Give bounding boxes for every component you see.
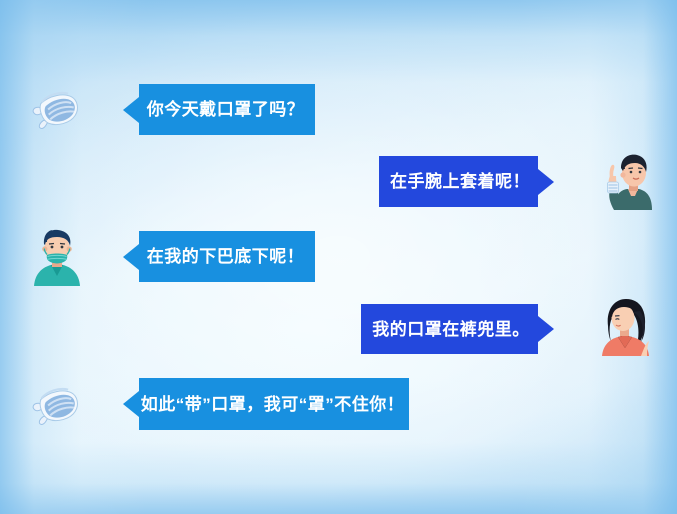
chat-bubble-text-1: 你今天戴口罩了吗？: [147, 101, 305, 118]
chat-bubble-text-3: 在我的下巴底下呢！: [147, 248, 305, 265]
surgical-mask-icon: [28, 378, 84, 430]
surgical-mask-icon: [28, 82, 84, 134]
woman-long-hair-avatar: [594, 296, 658, 356]
bubble-tail-right-4: [538, 316, 554, 342]
background-edge-right: [0, 0, 677, 514]
chat-bubble-3[interactable]: 在我的下巴底下呢！: [139, 231, 315, 282]
bubble-tail-right-2: [538, 169, 554, 195]
chat-bubble-text-5: 如此“带”口罩，我可“罩”不住你！: [141, 396, 405, 413]
chat-bubble-1[interactable]: 你今天戴口罩了吗？: [139, 84, 315, 135]
chat-bubble-text-2: 在手腕上套着呢！: [390, 173, 530, 190]
chat-bubble-text-4: 我的口罩在裤兜里。: [372, 321, 530, 338]
chat-illustration-canvas: 你今天戴口罩了吗？ 在手腕上套着呢！: [0, 0, 677, 514]
man-pointing-with-mask-on-wrist-avatar: [592, 146, 658, 210]
bubble-tail-left-1: [123, 97, 139, 123]
man-mask-under-chin-avatar: [28, 228, 86, 286]
bubble-tail-left-3: [123, 244, 139, 270]
chat-bubble-5[interactable]: 如此“带”口罩，我可“罩”不住你！: [139, 378, 409, 430]
bubble-tail-left-5: [123, 391, 139, 417]
chat-bubble-2[interactable]: 在手腕上套着呢！: [379, 156, 538, 207]
chat-bubble-4[interactable]: 我的口罩在裤兜里。: [361, 304, 538, 354]
